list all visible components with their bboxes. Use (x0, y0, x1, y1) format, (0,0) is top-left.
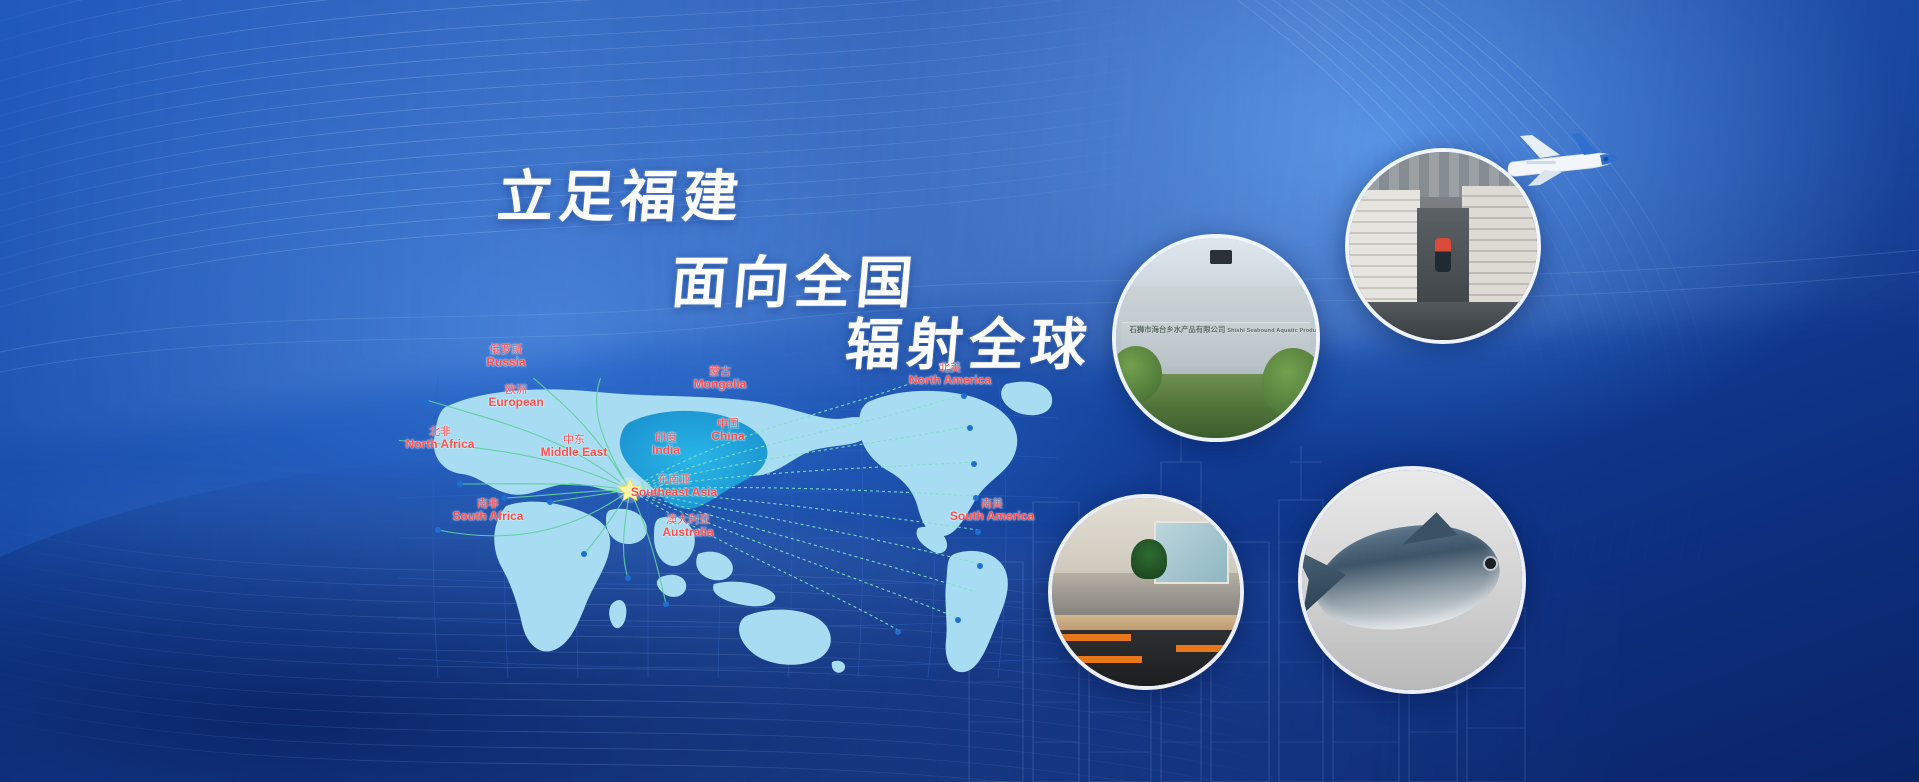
slogan-block: 立足福建 面向全国 辐射全球 (0, 0, 1100, 360)
office-plant-icon (1131, 539, 1167, 579)
gate-sky (1116, 238, 1316, 290)
map-label-russia: 俄罗斯 Russia (486, 344, 525, 370)
carton-stack-right (1462, 186, 1537, 310)
slogan-line-3: 辐射全球 (842, 300, 1095, 381)
company-name-cn: 石狮市海台乡水产品有限公司 (1130, 325, 1226, 333)
slogan-line-1: 立足福建 (494, 152, 747, 233)
gate-lamp-icon (1210, 250, 1232, 264)
warehouse-floor (1349, 302, 1537, 340)
warehouse-worker (1435, 238, 1451, 272)
office-accent-stripe-2 (1056, 656, 1142, 663)
photo-tuna-product (1298, 466, 1526, 694)
gate-bush-right (1262, 348, 1320, 418)
photo-company-gate: 石狮市海台乡水产品有限公司 Shishi Seabound Aquatic Pr… (1112, 234, 1320, 442)
gate-bush-left (1112, 346, 1162, 402)
photo-office-reception (1048, 494, 1244, 690)
carton-stack-left (1349, 190, 1420, 307)
promo-banner: 立足福建 面向全国 辐射全球 (0, 0, 1919, 782)
origin-star (617, 477, 643, 503)
world-map: 俄罗斯 Russia 蒙古 Mongolia 中国 China 欧洲 Europ… (398, 378, 1058, 678)
office-accent-stripe-3 (1176, 645, 1232, 652)
airplane-icon (1500, 128, 1620, 190)
office-accent-stripe-1 (1056, 634, 1131, 641)
tuna-eye (1485, 558, 1496, 569)
company-name-en: Shishi Seabound Aquatic Products Co., Lt… (1227, 328, 1320, 334)
slogan-line-2: 面向全国 (668, 238, 921, 319)
